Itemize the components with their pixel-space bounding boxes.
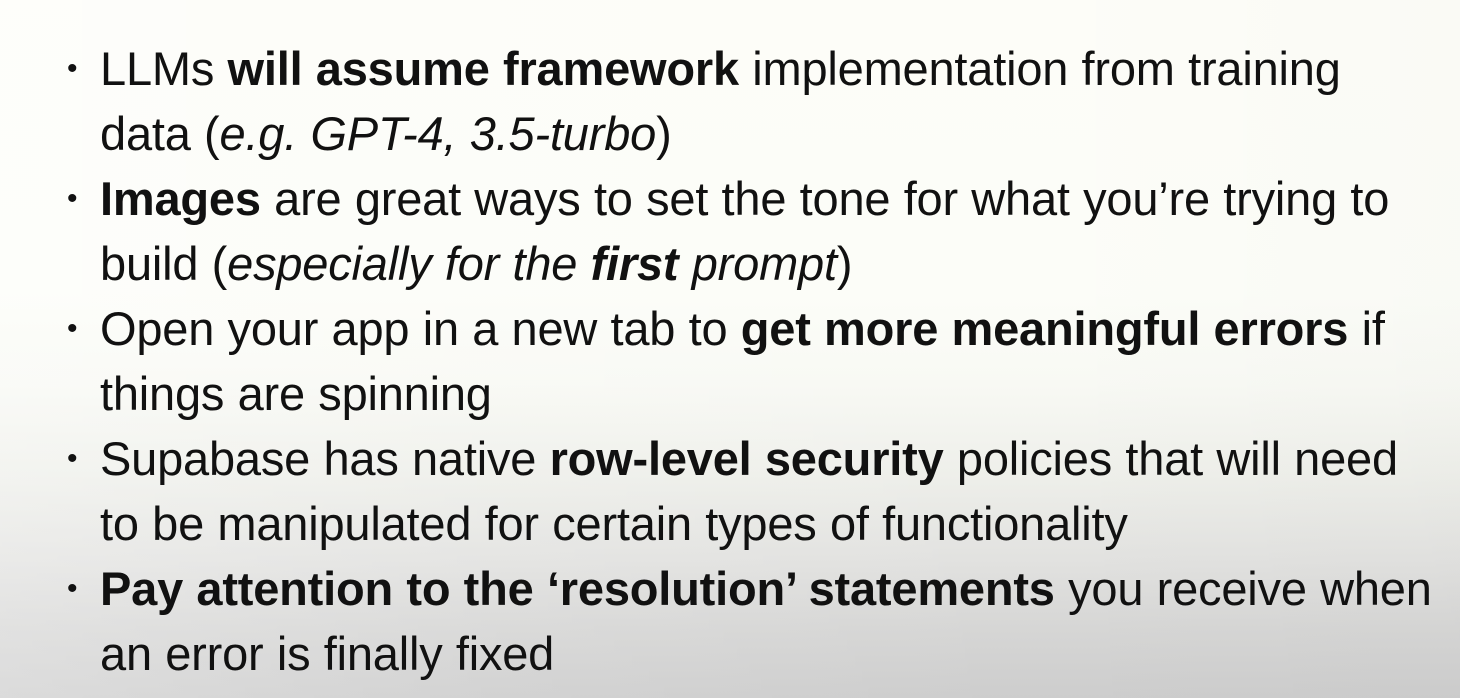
bullet-text-4: Supabase has native row-level security p… bbox=[100, 432, 1398, 550]
bullet-point-icon: • bbox=[67, 36, 81, 101]
slide-canvas: • LLMs will assume framework implementat… bbox=[0, 0, 1460, 698]
bullet-list: • LLMs will assume framework implementat… bbox=[0, 0, 1460, 686]
list-item: • LLMs will assume framework implementat… bbox=[0, 36, 1460, 166]
bullet-point-icon: • bbox=[67, 556, 81, 621]
list-item: • Images are great ways to set the tone … bbox=[0, 166, 1460, 296]
bullet-point-icon: • bbox=[67, 426, 81, 491]
list-item: • Supabase has native row-level security… bbox=[0, 426, 1460, 556]
list-item: • Open your app in a new tab to get more… bbox=[0, 296, 1460, 426]
bullet-text-1: LLMs will assume framework implementatio… bbox=[100, 42, 1341, 160]
bullet-text-2: Images are great ways to set the tone fo… bbox=[100, 172, 1389, 290]
bullet-text-5: Pay attention to the ‘resolution’ statem… bbox=[100, 562, 1432, 680]
bullet-text-3: Open your app in a new tab to get more m… bbox=[100, 302, 1385, 420]
list-item: • Pay attention to the ‘resolution’ stat… bbox=[0, 556, 1460, 686]
bullet-point-icon: • bbox=[67, 166, 81, 231]
bullet-point-icon: • bbox=[67, 296, 81, 361]
